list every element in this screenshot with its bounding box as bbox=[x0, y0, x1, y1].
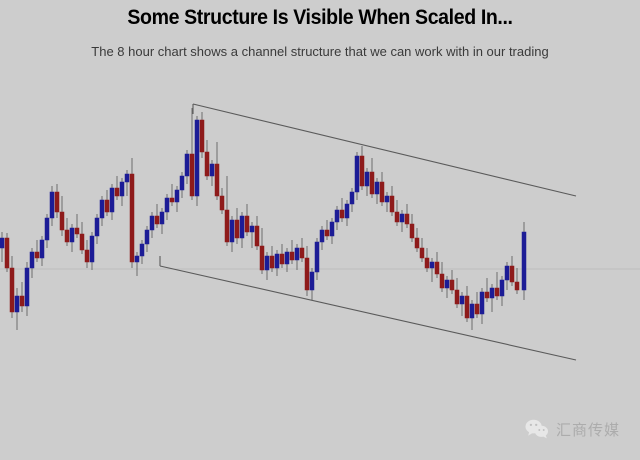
candle-body bbox=[395, 212, 399, 222]
candle bbox=[310, 268, 314, 300]
candle bbox=[80, 222, 84, 254]
candle bbox=[150, 212, 154, 238]
candle bbox=[335, 206, 339, 230]
chart-canvas bbox=[0, 72, 640, 402]
candle-body bbox=[20, 296, 24, 306]
candle bbox=[250, 222, 254, 248]
candle-body bbox=[185, 154, 189, 176]
candle-body bbox=[370, 172, 374, 194]
candle bbox=[515, 268, 519, 294]
candle bbox=[155, 204, 159, 228]
candle bbox=[205, 140, 209, 180]
candle bbox=[65, 218, 69, 246]
candle-body bbox=[225, 210, 229, 242]
candle-body bbox=[175, 190, 179, 202]
channel-trendlines bbox=[160, 104, 576, 360]
candle-body bbox=[130, 174, 134, 262]
candle bbox=[280, 244, 284, 268]
candle bbox=[470, 300, 474, 330]
candle bbox=[460, 292, 464, 316]
candle-body bbox=[5, 238, 9, 268]
candle-body bbox=[220, 196, 224, 210]
candle bbox=[380, 172, 384, 206]
candle-body bbox=[415, 238, 419, 248]
candle-body bbox=[420, 248, 424, 258]
candle bbox=[395, 200, 399, 226]
candle-body bbox=[230, 220, 234, 242]
candle-body bbox=[240, 216, 244, 238]
candle bbox=[125, 170, 129, 196]
candle bbox=[175, 186, 179, 212]
candle-body bbox=[450, 280, 454, 290]
candle-body bbox=[170, 198, 174, 202]
candle bbox=[30, 248, 34, 278]
candle-body bbox=[245, 216, 249, 232]
candle-body bbox=[522, 232, 526, 290]
candle-body bbox=[465, 296, 469, 318]
candle bbox=[45, 214, 49, 248]
candle bbox=[180, 172, 184, 198]
candle bbox=[200, 112, 204, 158]
candle-body bbox=[270, 256, 274, 268]
candle-body bbox=[355, 156, 359, 192]
candle-body bbox=[190, 154, 194, 196]
candle-body bbox=[275, 254, 279, 268]
candle bbox=[10, 256, 14, 318]
candle-body bbox=[290, 252, 294, 260]
candle-body bbox=[25, 268, 29, 306]
candle bbox=[245, 204, 249, 236]
candle-body bbox=[340, 210, 344, 218]
candle bbox=[185, 150, 189, 184]
candle bbox=[445, 276, 449, 298]
candle-body bbox=[495, 288, 499, 296]
candle bbox=[120, 178, 124, 206]
candle bbox=[50, 186, 54, 226]
candle bbox=[135, 252, 139, 276]
candle bbox=[260, 228, 264, 274]
candle-series bbox=[0, 108, 526, 330]
candle-body bbox=[330, 222, 334, 236]
candle bbox=[75, 214, 79, 238]
candle-body bbox=[120, 182, 124, 196]
candle bbox=[475, 292, 479, 318]
candle-body bbox=[300, 248, 304, 258]
candle-body bbox=[425, 258, 429, 268]
candle bbox=[95, 214, 99, 244]
candle-body bbox=[410, 224, 414, 238]
candle bbox=[420, 238, 424, 262]
candle bbox=[220, 188, 224, 214]
candle bbox=[425, 248, 429, 272]
page-subtitle: The 8 hour chart shows a channel structu… bbox=[0, 44, 640, 59]
candle-body bbox=[60, 212, 64, 230]
candle-body bbox=[440, 274, 444, 288]
candle-body bbox=[195, 120, 199, 196]
candle bbox=[130, 158, 134, 268]
candle-body bbox=[255, 226, 259, 246]
candle bbox=[350, 188, 354, 212]
candle-body bbox=[510, 266, 514, 282]
candle bbox=[160, 208, 164, 234]
candle-body bbox=[0, 238, 4, 248]
candle-body bbox=[315, 242, 319, 272]
candle-body bbox=[85, 250, 89, 262]
candle bbox=[295, 244, 299, 270]
upper-channel-line bbox=[193, 104, 576, 196]
candle-body bbox=[70, 228, 74, 242]
candle bbox=[210, 160, 214, 186]
candle bbox=[5, 233, 9, 272]
candle-body bbox=[320, 230, 324, 242]
candle bbox=[255, 216, 259, 250]
candle bbox=[170, 184, 174, 206]
candle-body bbox=[490, 288, 494, 298]
candle-body bbox=[95, 218, 99, 236]
candle-body bbox=[15, 296, 19, 312]
candle bbox=[485, 278, 489, 302]
candle-body bbox=[145, 230, 149, 244]
candle-body bbox=[125, 174, 129, 182]
candle bbox=[340, 198, 344, 222]
candle-body bbox=[155, 216, 159, 224]
candle bbox=[225, 176, 229, 246]
candle bbox=[330, 218, 334, 244]
candle bbox=[365, 168, 369, 196]
candle bbox=[505, 262, 509, 290]
candle-body bbox=[325, 230, 329, 236]
candle bbox=[345, 200, 349, 226]
candle bbox=[215, 142, 219, 200]
candle bbox=[522, 222, 526, 300]
candle-body bbox=[135, 256, 139, 262]
candle-body bbox=[345, 204, 349, 218]
candle-body bbox=[150, 216, 154, 230]
candle-body bbox=[250, 226, 254, 232]
candle bbox=[510, 256, 514, 286]
candle-body bbox=[140, 244, 144, 256]
candle bbox=[20, 282, 24, 312]
candle-body bbox=[460, 296, 464, 304]
candle-body bbox=[475, 304, 479, 314]
candle bbox=[440, 262, 444, 292]
candle bbox=[235, 208, 239, 244]
candle-body bbox=[160, 212, 164, 224]
candle-body bbox=[430, 262, 434, 268]
candle bbox=[375, 178, 379, 204]
page-title: Some Structure Is Visible When Scaled In… bbox=[22, 6, 617, 30]
candle bbox=[15, 288, 19, 330]
candle bbox=[370, 158, 374, 198]
candle-body bbox=[280, 254, 284, 264]
candle bbox=[390, 186, 394, 216]
candle-body bbox=[365, 172, 369, 186]
candle bbox=[145, 226, 149, 252]
candle bbox=[0, 232, 4, 262]
candle-body bbox=[100, 200, 104, 218]
candle bbox=[435, 252, 439, 278]
candle bbox=[60, 196, 64, 236]
candle-body bbox=[165, 198, 169, 212]
candle-body bbox=[215, 164, 219, 196]
candle bbox=[110, 184, 114, 220]
candle bbox=[115, 176, 119, 200]
candle bbox=[85, 240, 89, 268]
candle bbox=[315, 238, 319, 280]
candle-body bbox=[470, 304, 474, 318]
candle-body bbox=[75, 228, 79, 234]
candle bbox=[495, 272, 499, 300]
candle bbox=[430, 258, 434, 282]
candlestick-chart bbox=[0, 72, 640, 402]
candle-body bbox=[385, 196, 389, 202]
candle bbox=[35, 240, 39, 262]
candle-body bbox=[30, 252, 34, 268]
candle bbox=[405, 204, 409, 228]
candle bbox=[385, 192, 389, 212]
chart-screenshot: Some Structure Is Visible When Scaled In… bbox=[0, 0, 640, 460]
candle bbox=[450, 270, 454, 294]
candle-body bbox=[80, 234, 84, 250]
candle-body bbox=[90, 236, 94, 262]
watermark: 汇商传媒 bbox=[525, 416, 629, 442]
candle-body bbox=[380, 182, 384, 202]
candle bbox=[140, 240, 144, 264]
candle-body bbox=[260, 246, 264, 270]
candle bbox=[230, 216, 234, 252]
candle-body bbox=[515, 282, 519, 290]
candle bbox=[290, 240, 294, 264]
candle-body bbox=[55, 192, 59, 212]
candle bbox=[105, 190, 109, 216]
candle-body bbox=[480, 292, 484, 314]
candle-body bbox=[500, 280, 504, 296]
candle bbox=[285, 248, 289, 272]
candle-body bbox=[360, 156, 364, 186]
candle-body bbox=[265, 256, 269, 270]
candle bbox=[320, 226, 324, 250]
candle bbox=[465, 286, 469, 322]
candle bbox=[360, 146, 364, 190]
candle bbox=[195, 116, 199, 206]
candle-body bbox=[105, 200, 109, 212]
candle bbox=[490, 284, 494, 312]
candle-body bbox=[375, 182, 379, 194]
candle bbox=[40, 236, 44, 266]
candle bbox=[305, 246, 309, 296]
candle bbox=[500, 276, 504, 306]
candle-body bbox=[305, 258, 309, 290]
candle bbox=[190, 108, 194, 200]
candle bbox=[325, 220, 329, 240]
candle-body bbox=[50, 192, 54, 218]
candle-body bbox=[435, 262, 439, 274]
candle-body bbox=[10, 268, 14, 312]
candle bbox=[100, 196, 104, 226]
candle bbox=[270, 246, 274, 272]
candle bbox=[25, 262, 29, 316]
candle bbox=[165, 194, 169, 220]
candle-body bbox=[115, 188, 119, 196]
candle bbox=[90, 232, 94, 270]
watermark-label: 汇商传媒 bbox=[556, 419, 620, 440]
candle bbox=[300, 238, 304, 262]
candle-body bbox=[65, 230, 69, 242]
candle bbox=[70, 224, 74, 252]
candle-body bbox=[45, 218, 49, 240]
candle-body bbox=[200, 120, 204, 152]
candle-body bbox=[505, 266, 509, 280]
candle-body bbox=[285, 252, 289, 264]
candle-body bbox=[485, 292, 489, 298]
candle-body bbox=[110, 188, 114, 212]
candle-body bbox=[180, 176, 184, 190]
candle-body bbox=[405, 214, 409, 224]
candle-body bbox=[445, 280, 449, 288]
candle-body bbox=[235, 220, 239, 238]
candle bbox=[265, 252, 269, 280]
candle-body bbox=[455, 290, 459, 304]
candle-body bbox=[205, 152, 209, 176]
candle-body bbox=[390, 196, 394, 212]
candle-body bbox=[35, 252, 39, 258]
candle bbox=[480, 288, 484, 324]
candle bbox=[240, 212, 244, 248]
candle bbox=[410, 214, 414, 242]
candle-body bbox=[40, 240, 44, 258]
candle-body bbox=[210, 164, 214, 176]
candle-body bbox=[335, 210, 339, 222]
candle-body bbox=[400, 214, 404, 222]
candle bbox=[355, 152, 359, 200]
candle bbox=[400, 210, 404, 232]
candle-body bbox=[350, 192, 354, 204]
candle bbox=[275, 250, 279, 276]
candle bbox=[455, 278, 459, 308]
candle-body bbox=[295, 248, 299, 260]
wechat-icon bbox=[525, 419, 549, 439]
candle bbox=[55, 184, 59, 218]
candle bbox=[415, 228, 419, 252]
candle-body bbox=[310, 272, 314, 290]
